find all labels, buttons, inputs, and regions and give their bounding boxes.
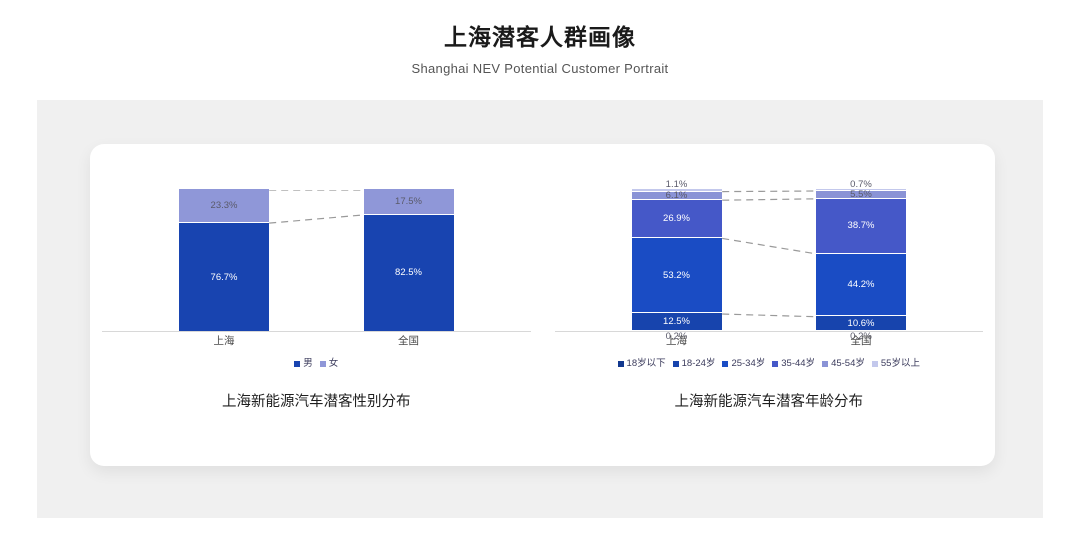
age-category-shanghai: 上海: [632, 334, 722, 348]
age-category-labels: 上海 全国: [543, 334, 996, 350]
legend-swatch-icon: [822, 361, 828, 367]
gender-category-labels: 上海 全国: [90, 334, 543, 350]
age-axis-line: [555, 331, 984, 332]
age-plot-area: 1.1% 6.1% 26.9% 53.2% 12.5% 0.: [543, 190, 996, 332]
page-title: 上海潜客人群画像: [0, 22, 1080, 52]
legend-item-35-44[interactable]: 35-44岁: [772, 358, 815, 370]
chart-gender-distribution: 23.3% 76.7% 17.5% 82.5% 上海: [90, 144, 543, 466]
legend-label: 女: [329, 358, 339, 370]
gender-segment-label: 76.7%: [211, 272, 238, 283]
legend-item-18-24[interactable]: 18-24岁: [673, 358, 716, 370]
legend-label: 45-54岁: [831, 358, 865, 370]
age-segment-45-54-national[interactable]: 5.5%: [816, 190, 906, 198]
charts-card: 23.3% 76.7% 17.5% 82.5% 上海: [90, 144, 995, 466]
age-segment-label: 10.6%: [848, 318, 875, 329]
gender-plot-area: 23.3% 76.7% 17.5% 82.5%: [90, 190, 543, 332]
legend-swatch-icon: [772, 361, 778, 367]
chart-age-distribution: 1.1% 6.1% 26.9% 53.2% 12.5% 0.: [543, 144, 996, 466]
gender-segment-label: 17.5%: [395, 196, 422, 207]
legend-label: 25-34岁: [731, 358, 765, 370]
charts-row: 23.3% 76.7% 17.5% 82.5% 上海: [90, 144, 995, 466]
age-connector-lines: [543, 190, 995, 332]
legend-swatch-icon: [320, 361, 326, 367]
age-segment-35-44-shanghai[interactable]: 26.9%: [632, 199, 722, 237]
age-segment-label: 38.7%: [848, 220, 875, 231]
age-segment-label: 1.1%: [632, 179, 722, 190]
page-header: 上海潜客人群画像 Shanghai NEV Potential Customer…: [0, 0, 1080, 78]
legend-swatch-icon: [294, 361, 300, 367]
gender-bar-shanghai[interactable]: 23.3% 76.7%: [179, 189, 269, 331]
legend-label: 18岁以下: [627, 358, 666, 370]
legend-item-under18[interactable]: 18岁以下: [618, 358, 666, 370]
gender-category-national: 全国: [364, 334, 454, 348]
age-segment-label: 44.2%: [848, 279, 875, 290]
legend-item-55plus[interactable]: 55岁以上: [872, 358, 920, 370]
gender-axis-line: [102, 331, 531, 332]
age-segment-18-24-national[interactable]: 10.6%: [816, 315, 906, 330]
age-legend: 18岁以下 18-24岁 25-34岁 35-44岁 45-54岁: [543, 358, 996, 370]
gender-category-shanghai: 上海: [179, 334, 269, 348]
age-chart-caption: 上海新能源汽车潜客年龄分布: [543, 392, 996, 412]
age-segment-35-44-national[interactable]: 38.7%: [816, 198, 906, 253]
gender-segment-female-national[interactable]: 17.5%: [364, 189, 454, 214]
age-segment-18-24-shanghai[interactable]: 12.5%: [632, 312, 722, 330]
gender-segment-male-national[interactable]: 82.5%: [364, 214, 454, 331]
legend-label: 35-44岁: [781, 358, 815, 370]
age-segment-25-34-national[interactable]: 44.2%: [816, 253, 906, 316]
age-segment-label: 26.9%: [663, 213, 690, 224]
legend-swatch-icon: [673, 361, 679, 367]
gender-chart-caption: 上海新能源汽车潜客性别分布: [90, 392, 543, 412]
legend-item-male[interactable]: 男: [294, 358, 313, 370]
legend-swatch-icon: [618, 361, 624, 367]
age-segment-label: 12.5%: [663, 316, 690, 327]
age-segment-45-54-shanghai[interactable]: 6.1%: [632, 191, 722, 200]
gender-bar-national[interactable]: 17.5% 82.5%: [364, 189, 454, 331]
legend-item-45-54[interactable]: 45-54岁: [822, 358, 865, 370]
page-subtitle: Shanghai NEV Potential Customer Portrait: [0, 60, 1080, 78]
gender-segment-label: 82.5%: [395, 267, 422, 278]
gender-segment-male-shanghai[interactable]: 76.7%: [179, 222, 269, 331]
gender-segment-label: 23.3%: [211, 200, 238, 211]
age-segment-25-34-shanghai[interactable]: 53.2%: [632, 237, 722, 312]
gender-legend: 男 女: [90, 358, 543, 370]
legend-label: 18-24岁: [682, 358, 716, 370]
legend-swatch-icon: [722, 361, 728, 367]
legend-item-female[interactable]: 女: [320, 358, 339, 370]
gender-segment-female-shanghai[interactable]: 23.3%: [179, 189, 269, 222]
legend-item-25-34[interactable]: 25-34岁: [722, 358, 765, 370]
age-bar-shanghai[interactable]: 1.1% 6.1% 26.9% 53.2% 12.5% 0.: [632, 189, 722, 331]
age-category-national: 全国: [816, 334, 906, 348]
legend-swatch-icon: [872, 361, 878, 367]
legend-label: 55岁以上: [881, 358, 920, 370]
age-segment-label: 53.2%: [663, 270, 690, 281]
age-bar-national[interactable]: 0.7% 5.5% 38.7% 44.2% 10.6% 0.: [816, 189, 906, 331]
gender-connector-lines: [90, 190, 542, 332]
legend-label: 男: [303, 358, 313, 370]
